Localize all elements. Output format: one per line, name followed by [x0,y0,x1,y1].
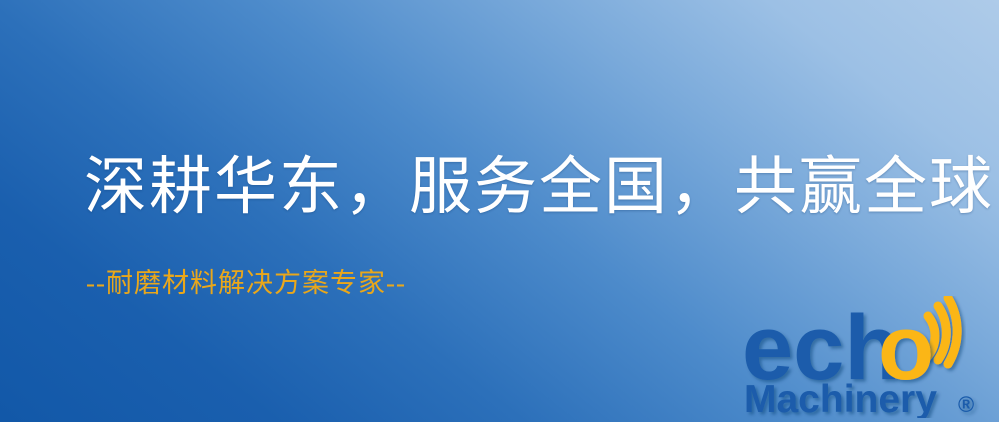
logo-registered-icon: ® [958,392,974,417]
banner-headline: 深耕华东，服务全国，共赢全球 [84,150,994,224]
hero-banner: 深耕华东，服务全国，共赢全球 --耐磨材料解决方案专家-- ech o [0,0,999,422]
banner-subtitle: --耐磨材料解决方案专家-- [86,266,406,300]
echo-machinery-logo[interactable]: ech o Machinery ® [742,296,994,418]
logo-tagline: Machinery [744,378,937,418]
